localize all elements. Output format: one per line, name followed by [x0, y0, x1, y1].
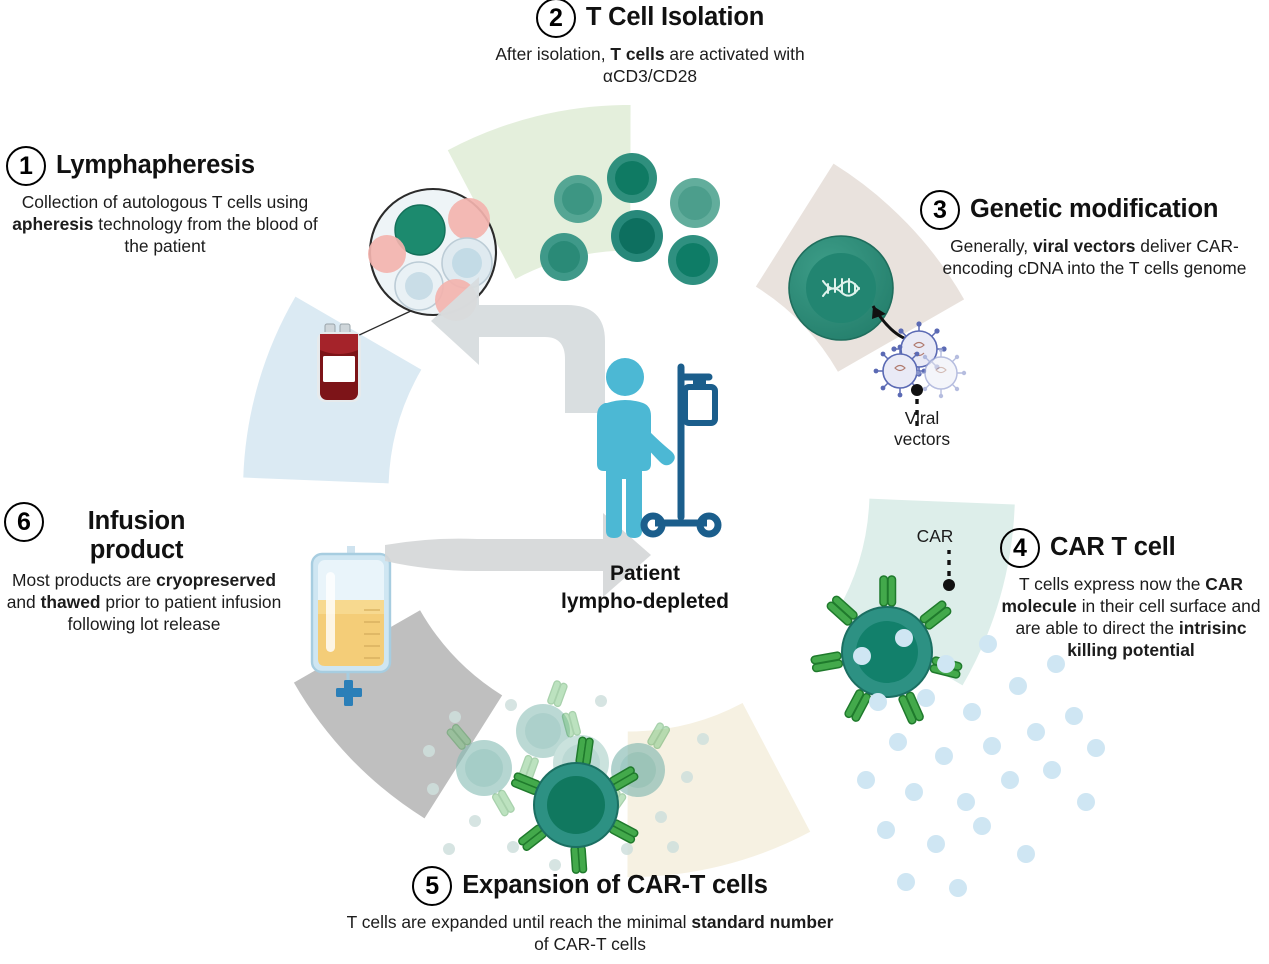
step-4-number: 4 — [1000, 528, 1040, 568]
step-2-number: 2 — [536, 0, 576, 38]
step-1-title: Lymphapheresis — [56, 146, 255, 180]
center-patient-label: Patient lympho-depleted — [500, 560, 790, 615]
step-3-title: Genetic modification — [970, 190, 1218, 224]
step-4-car-t-cell: 4 CAR T cell T cells express now the CAR… — [1000, 528, 1262, 661]
step-6-title: Infusion product — [54, 502, 219, 564]
step-1-lymphapheresis: 1 Lymphapheresis Collection of autologou… — [6, 146, 324, 257]
car-leader-dot — [943, 579, 955, 591]
viral-vectors-line1: Viral — [867, 408, 977, 429]
arrow-out-to-collection — [431, 277, 605, 413]
step-4-heading: 4 CAR T cell — [1000, 528, 1262, 568]
viral-vectors-leader-dot — [911, 384, 923, 396]
viral-vectors-label: Viral vectors — [867, 408, 977, 450]
patient-illustration — [585, 355, 730, 550]
step-4-title: CAR T cell — [1050, 528, 1176, 562]
step-3-number: 3 — [920, 190, 960, 230]
step-5-body: T cells are expanded until reach the min… — [340, 911, 840, 955]
center-label-line1: Patient — [500, 560, 790, 588]
step-2-title: T Cell Isolation — [586, 0, 764, 32]
step-1-number: 1 — [6, 146, 46, 186]
step-6-number: 6 — [4, 502, 44, 542]
patient-figure-icon — [597, 358, 675, 538]
step-5-heading: 5 Expansion of CAR-T cells — [340, 866, 840, 906]
step-2-heading: 2 T Cell Isolation — [455, 0, 845, 38]
step-6-infusion-product: 6 Infusion product Most products are cry… — [4, 502, 284, 635]
step-3-genetic-modification: 3 Genetic modification Generally, viral … — [920, 190, 1269, 279]
step-2-t-cell-isolation: 2 T Cell Isolation After isolation, T ce… — [455, 0, 845, 87]
step-3-heading: 3 Genetic modification — [920, 190, 1269, 230]
step-6-heading: 6 Infusion product — [4, 502, 284, 564]
step-5-expansion: 5 Expansion of CAR-T cells T cells are e… — [340, 866, 840, 955]
step-1-body: Collection of autologous T cells using a… — [6, 191, 324, 257]
step-2-body: After isolation, T cells are activated w… — [455, 43, 845, 87]
cart-workflow-diagram: Patient lympho-depleted Viral vectors CA… — [0, 0, 1269, 964]
center-label-line2: lympho-depleted — [500, 588, 790, 616]
iv-bag-icon — [685, 375, 715, 423]
viral-vectors-line2: vectors — [867, 429, 977, 450]
ring-segment-lymphapheresis — [243, 293, 431, 516]
step-5-title: Expansion of CAR-T cells — [462, 866, 768, 900]
step-1-heading: 1 Lymphapheresis — [6, 146, 324, 186]
step-5-number: 5 — [412, 866, 452, 906]
car-label: CAR — [890, 526, 980, 547]
step-3-body: Generally, viral vectors deliver CAR- en… — [920, 235, 1269, 279]
step-6-body: Most products are cryopreserved and thaw… — [4, 569, 284, 635]
step-4-body: T cells express now the CAR molecule in … — [1000, 573, 1262, 661]
